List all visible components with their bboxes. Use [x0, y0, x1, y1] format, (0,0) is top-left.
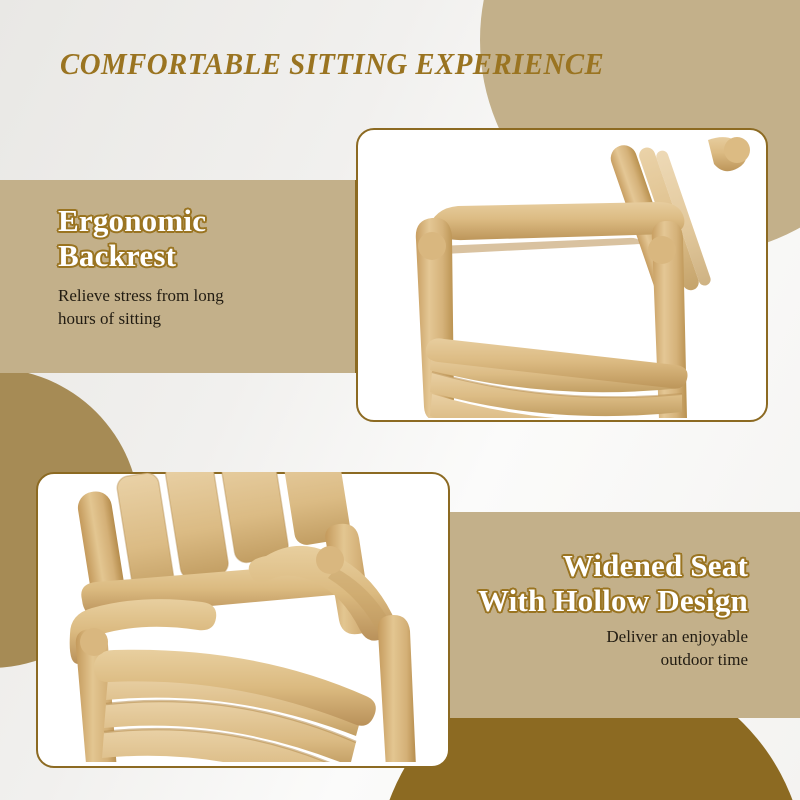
- feature-1-subtext-line1: Relieve stress from long: [58, 285, 338, 308]
- photo-card-backrest-closeup: [36, 472, 450, 768]
- feature-2-subtext: Deliver an enjoyable outdoor time: [428, 626, 748, 672]
- feature-2-heading-line1: Widened Seat: [428, 549, 748, 584]
- feature-2-subtext-line1: Deliver an enjoyable: [428, 626, 748, 649]
- feature-2-subtext-line2: outdoor time: [428, 649, 748, 672]
- feature-1-heading-line2: Backrest: [58, 239, 338, 274]
- feature-block-ergonomic-backrest: Ergonomic Backrest Relieve stress from l…: [58, 204, 338, 331]
- product-feature-poster: COMFORTABLE SITTING EXPERIENCE Ergonomic…: [0, 0, 800, 800]
- feature-1-subtext-line2: hours of sitting: [58, 308, 338, 331]
- feature-block-widened-seat: Widened Seat With Hollow Design Deliver …: [428, 549, 748, 672]
- feature-2-heading: Widened Seat With Hollow Design: [428, 549, 748, 618]
- feature-1-heading: Ergonomic Backrest: [58, 204, 338, 273]
- feature-1-subtext: Relieve stress from long hours of sittin…: [58, 285, 338, 331]
- photo-card-side-profile: [356, 128, 768, 422]
- feature-1-heading-line1: Ergonomic: [58, 204, 338, 239]
- page-title: COMFORTABLE SITTING EXPERIENCE: [60, 46, 604, 82]
- feature-2-heading-line2: With Hollow Design: [428, 584, 748, 619]
